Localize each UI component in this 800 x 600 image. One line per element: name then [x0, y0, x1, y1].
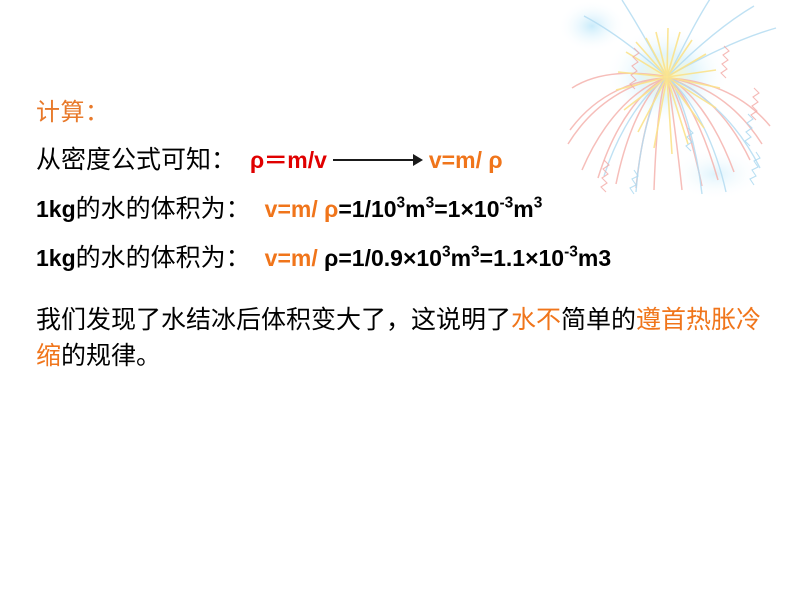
conclusion-highlight-1: 水不	[511, 307, 561, 334]
water-exp-a: 3	[397, 195, 406, 212]
heading-text: 计算：	[36, 100, 110, 126]
water-unit-a: m	[405, 196, 425, 222]
conclusion-part-1: 我们发现了水结冰后体积变大了，这说明了	[36, 307, 511, 334]
water-unit-b: m	[513, 196, 533, 222]
ice-calc-b: =1.1×10	[480, 245, 564, 271]
formula-line-water: 1kg的水的体积为：v=m/ ρ=1/103m3=1×10-3m3	[36, 191, 780, 228]
derivation-label: 从密度公式可知：	[36, 147, 236, 174]
formula-line-derivation: 从密度公式可知：ρ＝m/vv=m/ ρ	[36, 142, 780, 179]
conclusion-paragraph: 我们发现了水结冰后体积变大了，这说明了水不简单的遵首热胀冷缩的规律。	[36, 303, 772, 374]
slide-content: 计算： 从密度公式可知：ρ＝m/vv=m/ ρ 1kg的水的体积为：v=m/ ρ…	[36, 96, 780, 399]
ice-calc-a: =1/0.9×10	[338, 245, 442, 271]
ice-unit-a: m	[451, 245, 471, 271]
water-calc-a: =1/10	[338, 196, 396, 222]
ice-exp-a: 3	[442, 244, 451, 261]
conclusion-part-3: 的规律。	[61, 343, 161, 370]
formula-volume-ice: v=m/	[265, 245, 324, 271]
water-exp-b: -3	[500, 195, 514, 212]
page-title: 计算：	[36, 96, 780, 130]
conclusion-part-2: 简单的	[561, 307, 636, 334]
ice-tail-unit: m3	[578, 245, 611, 271]
water-volume-label: 的水的体积为：	[76, 196, 251, 223]
water-calc-b: =1×10	[434, 196, 499, 222]
mass-value-ice: 1kg	[36, 245, 76, 271]
ice-exp-b: -3	[564, 244, 578, 261]
ice-volume-label: 的水的体积为：	[76, 245, 251, 272]
water-unit-exp-a: 3	[426, 195, 435, 212]
formula-volume-water: v=m/ ρ	[265, 196, 339, 222]
mass-value-water: 1kg	[36, 196, 76, 222]
slide-canvas: 计算： 从密度公式可知：ρ＝m/vv=m/ ρ 1kg的水的体积为：v=m/ ρ…	[0, 0, 800, 600]
formula-volume: v=m/ ρ	[429, 147, 503, 173]
formula-density: ρ＝m/v	[250, 147, 327, 173]
formula-line-ice: 1kg的水的体积为：v=m/ ρ=1/0.9×103m3=1.1×10-3m3	[36, 240, 780, 277]
arrow-right-icon	[333, 153, 423, 167]
ice-unit-exp-a: 3	[471, 244, 480, 261]
water-unit-exp-b: 3	[534, 195, 543, 212]
rho-symbol-ice: ρ	[324, 245, 338, 271]
